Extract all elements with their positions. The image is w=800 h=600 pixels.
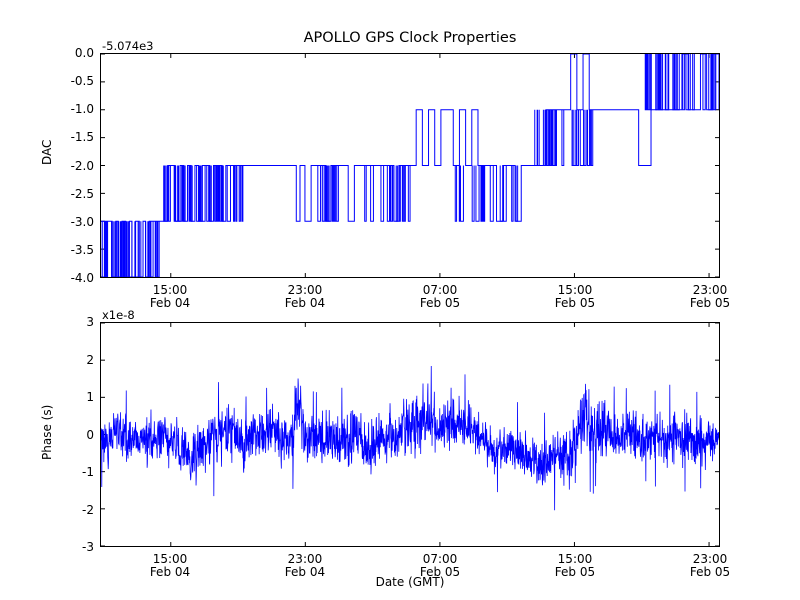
y-tick-label: -2.5 [42,187,94,201]
y-tick-label: -1 [42,465,94,479]
y-tick-label: 0.0 [42,46,94,60]
x-tick-label: 07:00Feb 05 [420,553,460,579]
x-tick-label: 23:00Feb 05 [690,553,730,579]
figure: APOLLO GPS Clock Properties -5.074e3 x1e… [0,0,800,600]
x-tick-label: 15:00Feb 05 [555,553,595,579]
y-tick-label: -3.0 [42,215,94,229]
y-tick-label: 3 [42,315,94,329]
x-tick-label: 23:00Feb 04 [285,284,325,310]
chart-title: APOLLO GPS Clock Properties [100,30,720,46]
y-tick-label: -4.0 [42,271,94,285]
dac-series-svg [101,54,719,277]
x-tick-label: 15:00Feb 04 [150,553,190,579]
dac-plot-area [100,53,720,278]
x-tick-label: 15:00Feb 04 [150,284,190,310]
x-tick-label: 23:00Feb 04 [285,553,325,579]
y-tick-label: 0 [42,428,94,442]
phase-noise-line [101,366,719,510]
x-tick-label: 07:00Feb 05 [420,284,460,310]
x-tick-label: 23:00Feb 05 [690,284,730,310]
y-tick-label: -3 [42,540,94,554]
y-tick-label: -0.5 [42,74,94,88]
y-tick-label: -2.0 [42,159,94,173]
y-tick-label: -3.5 [42,243,94,257]
phase-series-svg [101,323,719,546]
dac-axis-offset-text: -5.074e3 [102,39,153,53]
y-tick-label: 1 [42,390,94,404]
y-tick-label: -1.0 [42,102,94,116]
x-tick-label: 15:00Feb 05 [555,284,595,310]
phase-axis-offset-text: x1e-8 [102,308,135,322]
y-tick-label: -1.5 [42,130,94,144]
y-tick-label: -2 [42,503,94,517]
phase-plot-area [100,322,720,547]
y-tick-label: 2 [42,353,94,367]
